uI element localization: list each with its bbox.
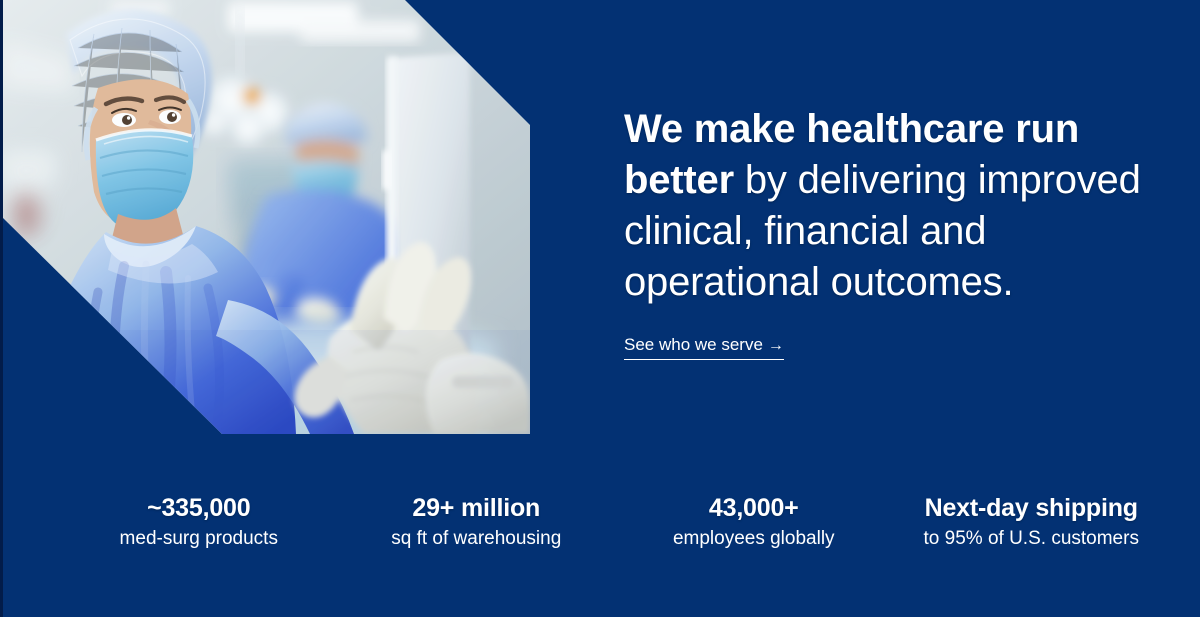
stat-value: 29+ million [344, 492, 610, 525]
stat-label: sq ft of warehousing [344, 525, 610, 553]
stat-item: Next-day shipping to 95% of U.S. custome… [893, 492, 1171, 553]
hero-copy: We make healthcare run better by deliver… [624, 104, 1180, 360]
hero-banner: We make healthcare run better by deliver… [0, 0, 1200, 617]
see-who-we-serve-link[interactable]: See who we serve→ [624, 334, 784, 360]
stat-item: 43,000+ employees globally [615, 492, 893, 553]
stats-row: ~335,000 med-surg products 29+ million s… [60, 492, 1170, 553]
left-edge-rail [0, 0, 3, 617]
operating-room-photo [0, 0, 530, 434]
page-title: We make healthcare run better by deliver… [624, 104, 1180, 308]
stat-item: ~335,000 med-surg products [60, 492, 338, 553]
cta-label: See who we serve [624, 335, 763, 354]
stat-value: Next-day shipping [899, 492, 1165, 525]
stat-item: 29+ million sq ft of warehousing [338, 492, 616, 553]
stat-value: 43,000+ [621, 492, 887, 525]
arrow-right-icon: → [768, 337, 784, 354]
stat-label: med-surg products [66, 525, 332, 553]
stat-label: employees globally [621, 525, 887, 553]
stat-value: ~335,000 [66, 492, 332, 525]
stat-label: to 95% of U.S. customers [899, 525, 1165, 553]
